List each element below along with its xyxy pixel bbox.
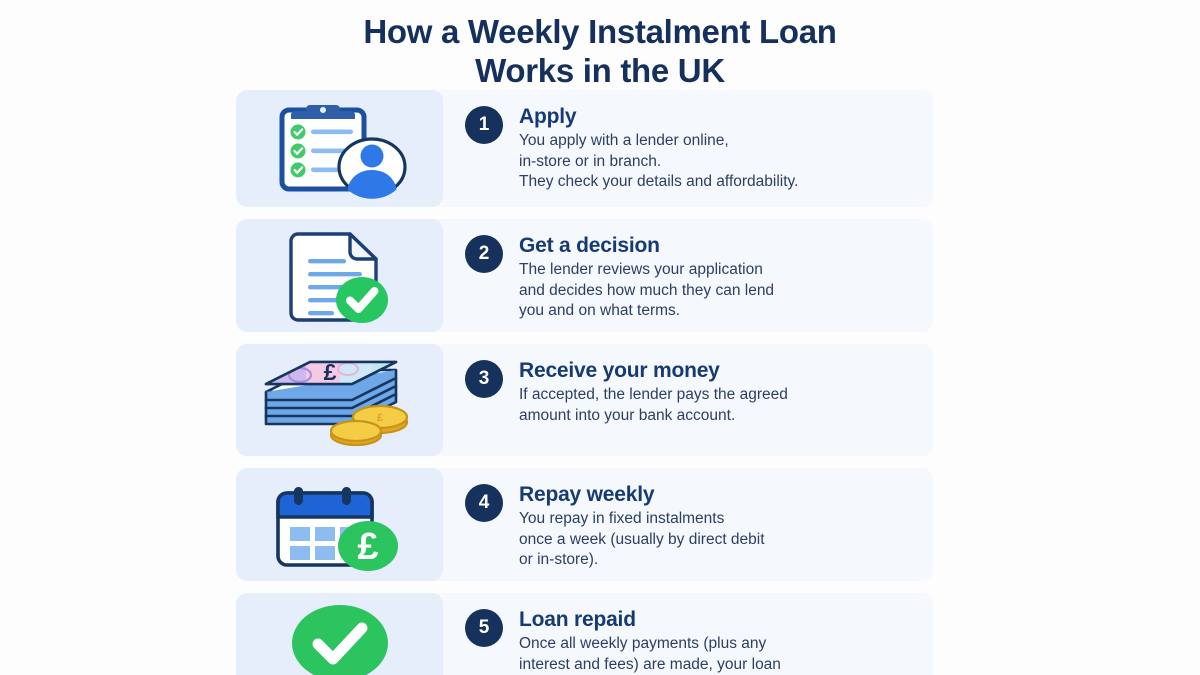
svg-text:£: £ xyxy=(377,412,383,424)
step-2-number-badge: 2 xyxy=(465,235,503,273)
step-5-number-badge: 5 xyxy=(465,609,503,647)
clipboard-checklist-person-icon xyxy=(265,99,415,199)
step-4-copy: Repay weekly You repay in fixed instalme… xyxy=(519,482,765,571)
step-4-line-2: once a week (usually by direct debit xyxy=(519,530,765,551)
step-3-line-1: If accepted, the lender pays the agreed xyxy=(519,385,788,406)
step-1-line-1: You apply with a lender online, xyxy=(519,131,798,152)
step-1-icon-panel xyxy=(236,90,443,207)
step-3-copy: Receive your money If accepted, the lend… xyxy=(519,358,788,426)
step-4-icon-panel: £ xyxy=(236,468,443,581)
step-2-line-3: you and on what terms. xyxy=(519,301,774,322)
step-5-line-2: interest and fees) are made, your loan xyxy=(519,655,781,675)
step-card-1: 1 Apply You apply with a lender online, … xyxy=(236,90,933,207)
step-card-4: £ 4 Repay weekly You repay in fixed inst… xyxy=(236,468,933,581)
step-3-text-panel: 3 Receive your money If accepted, the le… xyxy=(443,344,933,456)
step-3-icon-panel: £ £ xyxy=(236,344,443,456)
step-5-title: Loan repaid xyxy=(519,607,781,632)
page-title-line-2: Works in the UK xyxy=(0,51,1200,90)
step-1-copy: Apply You apply with a lender online, in… xyxy=(519,104,798,193)
step-3-title: Receive your money xyxy=(519,358,788,383)
step-1-line-3: They check your details and affordabilit… xyxy=(519,172,798,193)
svg-text:£: £ xyxy=(357,526,378,568)
step-2-line-2: and decides how much they can lend xyxy=(519,281,774,302)
svg-text:£: £ xyxy=(324,359,337,385)
step-1-text-panel: 1 Apply You apply with a lender online, … xyxy=(443,90,933,207)
infographic-page: How a Weekly Instalment Loan Works in th… xyxy=(0,0,1200,675)
step-5-icon-panel xyxy=(236,593,443,675)
step-2-text-panel: 2 Get a decision The lender reviews your… xyxy=(443,219,933,332)
step-4-line-3: or in-store). xyxy=(519,550,765,571)
step-1-line-2: in-store or in branch. xyxy=(519,152,798,173)
step-2-icon-panel xyxy=(236,219,443,332)
step-2-copy: Get a decision The lender reviews your a… xyxy=(519,233,774,322)
step-4-line-1: You repay in fixed instalments xyxy=(519,509,765,530)
step-4-text-panel: 4 Repay weekly You repay in fixed instal… xyxy=(443,468,933,581)
step-3-line-2: amount into your bank account. xyxy=(519,406,788,427)
step-5-copy: Loan repaid Once all weekly payments (pl… xyxy=(519,607,781,675)
step-2-title: Get a decision xyxy=(519,233,774,258)
step-1-title: Apply xyxy=(519,104,798,129)
step-1-number-badge: 1 xyxy=(465,106,503,144)
step-2-line-1: The lender reviews your application xyxy=(519,260,774,281)
step-5-text-panel: 5 Loan repaid Once all weekly payments (… xyxy=(443,593,933,675)
green-check-circle-icon xyxy=(285,601,395,675)
calendar-pound-icon: £ xyxy=(262,475,417,575)
document-check-icon xyxy=(270,226,410,326)
steps-list: 1 Apply You apply with a lender online, … xyxy=(236,90,933,675)
step-card-3: £ £ 3 Receive your money If accepted, th… xyxy=(236,344,933,456)
page-title-line-1: How a Weekly Instalment Loan xyxy=(0,12,1200,51)
step-3-number-badge: 3 xyxy=(465,360,503,398)
page-title: How a Weekly Instalment Loan Works in th… xyxy=(0,12,1200,90)
step-5-line-1: Once all weekly payments (plus any xyxy=(519,634,781,655)
banknotes-coins-icon: £ £ xyxy=(252,350,427,450)
step-4-title: Repay weekly xyxy=(519,482,765,507)
step-card-5: 5 Loan repaid Once all weekly payments (… xyxy=(236,593,933,675)
step-4-number-badge: 4 xyxy=(465,484,503,522)
step-card-2: 2 Get a decision The lender reviews your… xyxy=(236,219,933,332)
